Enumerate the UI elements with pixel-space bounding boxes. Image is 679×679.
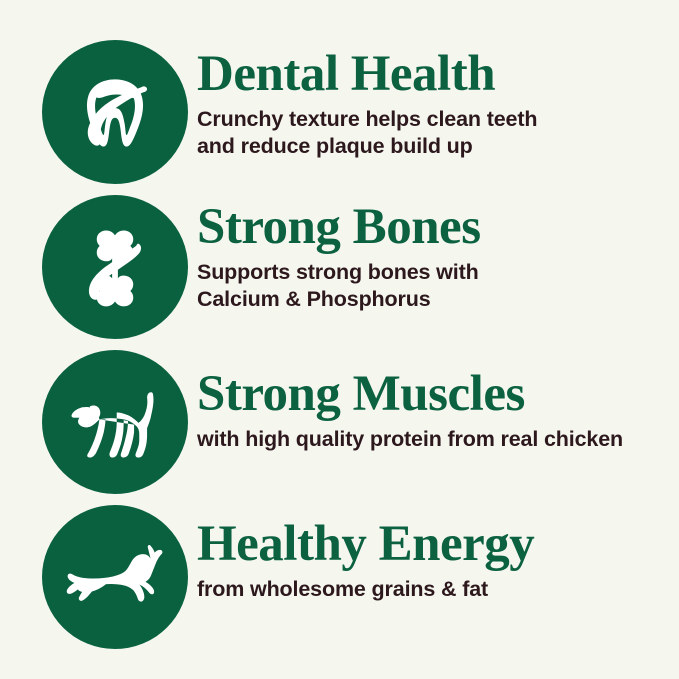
bone-swoosh-icon-badge [42,195,188,339]
standing-dog-icon-badge [42,350,188,494]
benefit-heading: Healthy Energy [197,520,667,569]
benefit-heading: Strong Bones [197,203,667,252]
tooth-leaf-icon [67,64,163,160]
benefit-subtext-line: Supports strong bones with [197,259,667,287]
benefit-subtext: Crunchy texture helps clean teeth and re… [197,99,667,161]
benefit-text-strong-bones: Strong Bones Supports strong bones with … [197,203,667,314]
running-dog-icon-badge [42,505,188,649]
running-dog-icon [60,522,170,632]
benefit-heading: Strong Muscles [197,370,677,419]
standing-dog-icon [63,370,167,474]
benefit-subtext-line: with high quality protein from real chic… [197,426,677,454]
benefit-text-strong-muscles: Strong Muscles with high quality protein… [197,370,677,453]
benefits-infographic: Dental Health Crunchy texture helps clea… [0,0,679,679]
benefit-subtext: with high quality protein from real chic… [197,419,677,454]
tooth-leaf-icon-badge [42,40,188,184]
benefit-subtext-line: Calcium & Phosphorus [197,286,667,314]
benefit-text-healthy-energy: Healthy Energy from wholesome grains & f… [197,520,667,603]
benefit-heading: Dental Health [197,50,667,99]
benefit-subtext: Supports strong bones with Calcium & Pho… [197,252,667,314]
bone-swoosh-icon [67,219,163,315]
benefit-subtext-line: from wholesome grains & fat [197,576,667,604]
benefit-subtext-line: and reduce plaque build up [197,133,667,161]
benefit-subtext-line: Crunchy texture helps clean teeth [197,106,667,134]
benefit-text-dental-health: Dental Health Crunchy texture helps clea… [197,50,667,161]
benefit-subtext: from wholesome grains & fat [197,569,667,604]
